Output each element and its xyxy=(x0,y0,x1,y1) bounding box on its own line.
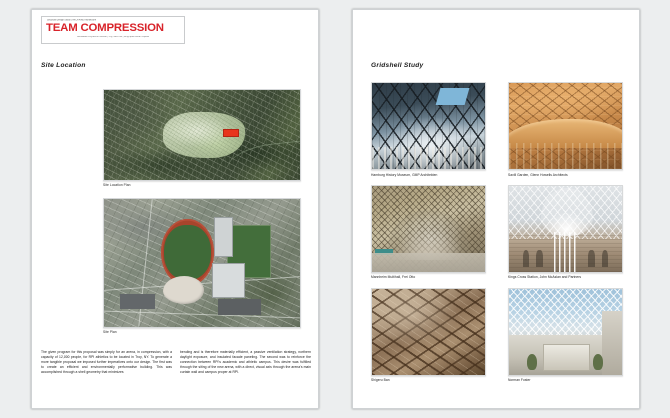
site-marker xyxy=(223,129,240,137)
building-a xyxy=(214,217,234,257)
parking-lot-a xyxy=(218,299,261,316)
shigeru-ban-image xyxy=(371,288,486,376)
caption-mannheim-multihall: Mannheim Multihall, Frei Otto xyxy=(371,275,486,279)
field-house-dome xyxy=(163,276,204,304)
funnel-columns xyxy=(554,232,579,272)
tree-right xyxy=(593,354,603,369)
lattice-arch xyxy=(388,210,469,260)
caption-kings-cross-station: Kings Cross Station, John McAslan and Pa… xyxy=(508,275,623,279)
precedent-cell-shigeru-ban: Shigeru Ban xyxy=(371,288,486,383)
logo-wordmark: TEAM COMPRESSION xyxy=(46,22,183,35)
portico xyxy=(543,344,590,372)
mannheim-multihall-image xyxy=(371,185,486,273)
team-logo-block: Structural Design Studio | ARCH 4960 Arc… xyxy=(41,16,185,44)
body-column-1: The given program for this proposal was … xyxy=(41,350,172,375)
savill-garden-image xyxy=(508,82,623,170)
right-wall xyxy=(602,311,622,375)
sky-patch xyxy=(435,88,469,105)
road-lower xyxy=(104,311,300,319)
kings-cross-station-image xyxy=(508,185,623,273)
precedent-cell-hamburg: Hamburg History Museum, GMP Architekten xyxy=(371,82,486,177)
precedent-cell-mannheim: Mannheim Multihall, Frei Otto xyxy=(371,185,486,280)
page-title-gridshell-study: Gridshell Study xyxy=(371,62,423,69)
tree-left xyxy=(527,354,537,369)
parking-lot-b xyxy=(120,294,155,309)
precedent-image-grid: Hamburg History Museum, GMP Architekten … xyxy=(371,82,623,391)
building-b xyxy=(212,263,245,298)
body-column-2: bending and is therefore materially effi… xyxy=(180,350,311,375)
precedent-cell-savill: Savill Garden, Glenn Howells Architects xyxy=(508,82,623,177)
left-page: Structural Design Studio | ARCH 4960 Arc… xyxy=(31,9,319,409)
precedent-cell-kings-cross: Kings Cross Station, John McAslan and Pa… xyxy=(508,185,623,280)
caption-savill-garden: Savill Garden, Glenn Howells Architects xyxy=(508,173,623,177)
hamburg-history-museum-image xyxy=(371,82,486,170)
page-title-site-location: Site Location xyxy=(41,62,86,69)
window-mid-right xyxy=(588,250,595,267)
caption-site-location-plan: Site Location Plan xyxy=(103,183,130,187)
caption-hamburg-history-museum: Hamburg History Museum, GMP Architekten xyxy=(371,173,486,177)
body-copy: The given program for this proposal was … xyxy=(41,350,311,375)
precedent-cell-norman-foster: Norman Foster xyxy=(508,288,623,383)
logo-subline: Rensselaer Polytechnic Institute | Troy,… xyxy=(46,36,180,40)
norman-foster-image xyxy=(508,288,623,376)
canopy-funnel xyxy=(541,188,593,236)
presentation-spread: Structural Design Studio | ARCH 4960 Arc… xyxy=(0,0,670,418)
site-location-plan-image xyxy=(103,89,301,181)
precedent-row-3: Shigeru Ban Norman Foster xyxy=(371,288,623,383)
caption-site-plan: Site Plan xyxy=(103,330,117,334)
window-left xyxy=(523,250,530,267)
caption-norman-foster: Norman Foster xyxy=(508,378,623,382)
figure-site-plan xyxy=(103,198,301,328)
site-plan-image xyxy=(103,198,301,328)
window-mid-left xyxy=(536,250,543,267)
right-page: Gridshell Study Hamburg History Museum, … xyxy=(352,9,640,409)
teal-panel xyxy=(375,249,393,255)
precedent-row-2: Mannheim Multihall, Frei Otto Kings Cros… xyxy=(371,185,623,280)
track-infield xyxy=(164,225,211,280)
caption-shigeru-ban: Shigeru Ban xyxy=(371,378,486,382)
figure-site-location-plan xyxy=(103,89,301,181)
precedent-row-1: Hamburg History Museum, GMP Architekten … xyxy=(371,82,623,177)
window-right xyxy=(602,250,609,267)
timber-wave xyxy=(508,119,623,148)
